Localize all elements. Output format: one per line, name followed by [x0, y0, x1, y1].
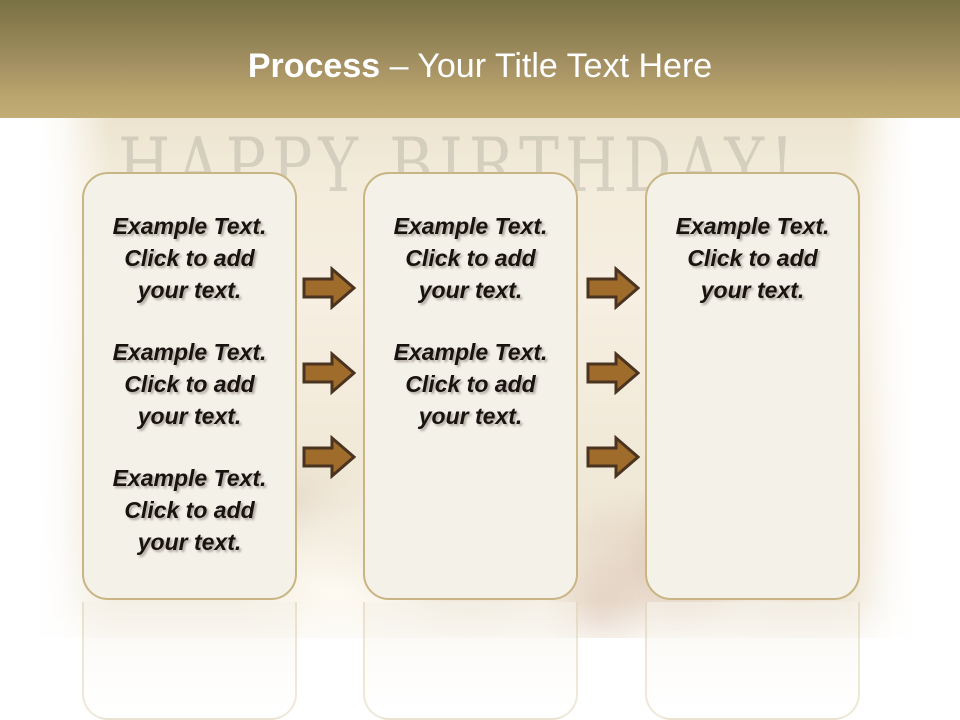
title-bar: Process – Your Title Text Here: [0, 0, 960, 118]
page-title-strong: Process: [248, 47, 380, 85]
page-title-rest: – Your Title Text Here: [380, 47, 712, 85]
right-arrow-icon[interactable]: [586, 266, 640, 310]
page-title: Process – Your Title Text Here: [0, 45, 960, 87]
process-panel-3[interactable]: Example Text. Click to add your text.: [645, 172, 860, 600]
slide-canvas: HAPPY BIRTHDAY! Process – Your Title Tex…: [0, 0, 960, 720]
text-block[interactable]: Example Text. Click to add your text.: [84, 210, 295, 306]
process-panel-1[interactable]: Example Text. Click to add your text. Ex…: [82, 172, 297, 600]
right-arrow-icon[interactable]: [302, 266, 356, 310]
panel-3-content: Example Text. Click to add your text.: [647, 174, 858, 306]
panel-reflection: [645, 602, 860, 720]
right-arrow-icon[interactable]: [586, 435, 640, 479]
text-block[interactable]: Example Text. Click to add your text.: [84, 462, 295, 558]
text-block[interactable]: Example Text. Click to add your text.: [365, 336, 576, 432]
text-block[interactable]: Example Text. Click to add your text.: [84, 336, 295, 432]
text-block[interactable]: Example Text. Click to add your text.: [365, 210, 576, 306]
right-arrow-icon[interactable]: [586, 351, 640, 395]
right-arrow-icon[interactable]: [302, 435, 356, 479]
background-right-fade: [850, 118, 960, 638]
text-block[interactable]: Example Text. Click to add your text.: [647, 210, 858, 306]
panel-reflection: [363, 602, 578, 720]
process-panel-2[interactable]: Example Text. Click to add your text. Ex…: [363, 172, 578, 600]
right-arrow-icon[interactable]: [302, 351, 356, 395]
panel-reflection: [82, 602, 297, 720]
panel-1-content: Example Text. Click to add your text. Ex…: [84, 174, 295, 558]
panel-2-content: Example Text. Click to add your text. Ex…: [365, 174, 576, 432]
